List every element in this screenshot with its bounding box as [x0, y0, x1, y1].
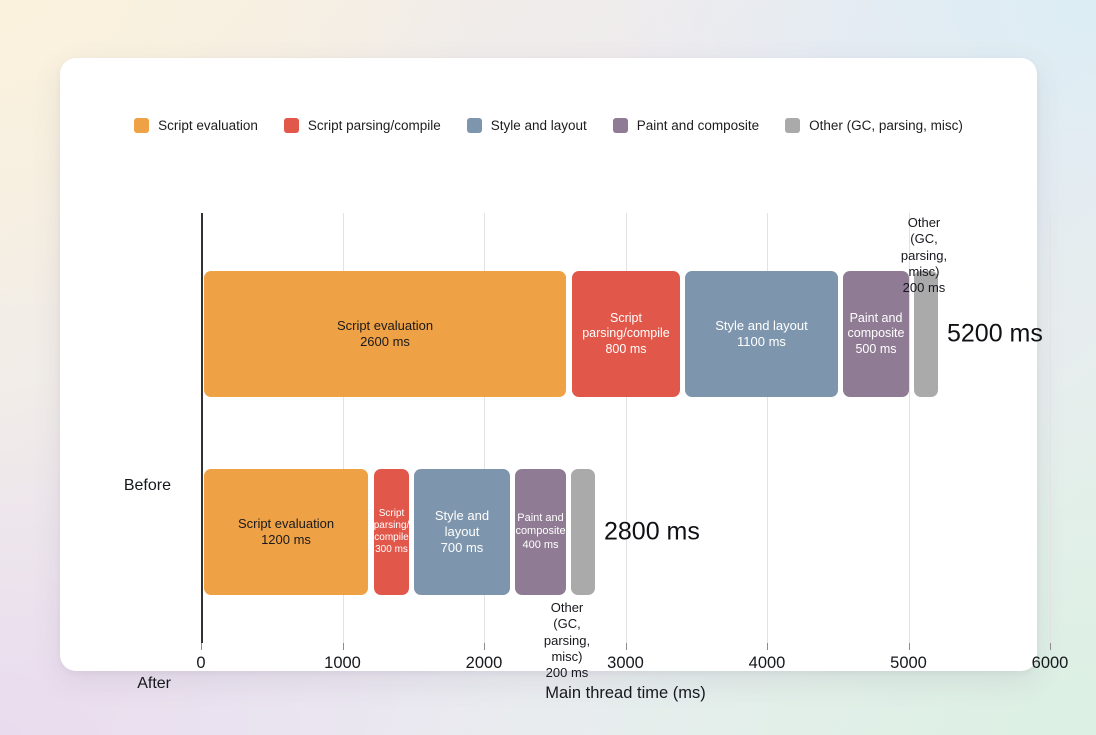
gridline-6000 — [1050, 213, 1051, 643]
plot-area: 0 1000 2000 3000 4000 5000 6000 Before A… — [201, 213, 1050, 643]
legend-item-script-evaluation[interactable]: Script evaluation — [134, 118, 258, 133]
bar-segment-script-parsing-compile[interactable]: Script parsing/compile 800 ms — [572, 271, 680, 397]
bar-segment-script-evaluation[interactable]: Script evaluation 2600 ms — [204, 271, 566, 397]
chart-legend: Script evaluation Script parsing/compile… — [60, 118, 1037, 133]
legend-item-paint-and-composite[interactable]: Paint and composite — [613, 118, 759, 133]
bar-segment-label: Script evaluation 2600 ms — [334, 318, 436, 350]
bar-segment-other[interactable] — [571, 469, 595, 595]
legend-label: Style and layout — [491, 118, 587, 133]
legend-swatch-icon — [284, 118, 299, 133]
bar-segment-style-and-layout[interactable]: Style and layout 1100 ms — [685, 271, 838, 397]
row-label-after: After — [61, 675, 171, 693]
tick-label-5000: 5000 — [890, 654, 927, 673]
bar-segment-label: Paint and composite 500 ms — [845, 311, 908, 357]
bar-segment-script-parsing-compile[interactable]: Script parsing/ compile 300 ms — [374, 469, 409, 595]
chart-card: Script evaluation Script parsing/compile… — [60, 58, 1037, 671]
bar-segment-label: Script parsing/ compile 300 ms — [374, 508, 409, 557]
legend-label: Paint and composite — [637, 118, 759, 133]
bar-segment-label: Script evaluation 1200 ms — [235, 516, 337, 548]
tick-mark-0 — [201, 643, 202, 650]
x-axis-title: Main thread time (ms) — [201, 684, 1050, 703]
row-label-before: Before — [61, 477, 171, 495]
bar-segment-style-and-layout[interactable]: Style and layout 700 ms — [414, 469, 510, 595]
legend-swatch-icon — [467, 118, 482, 133]
callout-other-after: Other (GC, parsing, misc) 200 ms — [544, 600, 590, 681]
bar-segment-paint-and-composite[interactable]: Paint and composite 400 ms — [515, 469, 566, 595]
legend-label: Script parsing/compile — [308, 118, 441, 133]
legend-label: Script evaluation — [158, 118, 258, 133]
bar-segment-label: Style and layout 700 ms — [414, 508, 510, 556]
tick-label-1000: 1000 — [324, 654, 361, 673]
y-axis-line — [201, 213, 203, 643]
bar-segment-script-evaluation[interactable]: Script evaluation 1200 ms — [204, 469, 368, 595]
legend-swatch-icon — [613, 118, 628, 133]
bar-segment-paint-and-composite[interactable]: Paint and composite 500 ms — [843, 271, 909, 397]
tick-label-2000: 2000 — [466, 654, 503, 673]
tick-label-4000: 4000 — [749, 654, 786, 673]
legend-item-script-parsing-compile[interactable]: Script parsing/compile — [284, 118, 441, 133]
tick-label-3000: 3000 — [607, 654, 644, 673]
legend-label: Other (GC, parsing, misc) — [809, 118, 963, 133]
tick-mark-3000 — [626, 643, 627, 650]
tick-mark-1000 — [343, 643, 344, 650]
tick-mark-5000 — [909, 643, 910, 650]
bar-segment-label: Paint and composite 400 ms — [515, 512, 566, 552]
tick-label-0: 0 — [196, 654, 205, 673]
total-label-after: 2800 ms — [604, 518, 700, 547]
legend-swatch-icon — [785, 118, 800, 133]
legend-item-style-and-layout[interactable]: Style and layout — [467, 118, 587, 133]
legend-swatch-icon — [134, 118, 149, 133]
total-label-before: 5200 ms — [947, 320, 1043, 349]
legend-item-other[interactable]: Other (GC, parsing, misc) — [785, 118, 963, 133]
tick-mark-6000 — [1050, 643, 1051, 650]
tick-label-6000: 6000 — [1032, 654, 1069, 673]
callout-other-before: Other (GC, parsing, misc) 200 ms — [901, 215, 947, 296]
bar-segment-label: Style and layout 1100 ms — [712, 318, 811, 350]
tick-mark-2000 — [484, 643, 485, 650]
bar-segment-label: Script parsing/compile 800 ms — [579, 311, 673, 357]
tick-mark-4000 — [767, 643, 768, 650]
